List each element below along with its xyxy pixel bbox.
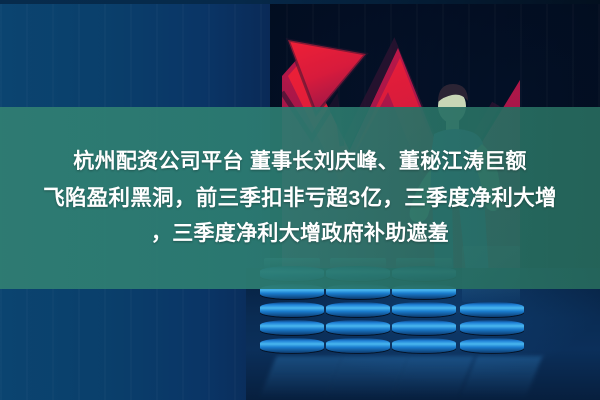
headline-line-3: ，三季度净利大增政府补助遮羞 — [151, 219, 449, 249]
news-banner-image: 杭州配资公司平台 董事长刘庆峰、董秘江涛巨额 飞陷盈利黑洞，前三季扣非亏超3亿，… — [0, 0, 600, 400]
headline-line-2: 飞陷盈利黑洞，前三季扣非亏超3亿，三季度净利大增 — [43, 183, 557, 213]
headline-line-1: 杭州配资公司平台 董事长刘庆峰、董秘江涛巨额 — [73, 147, 526, 177]
headline-text-block: 杭州配资公司平台 董事长刘庆峰、董秘江涛巨额 飞陷盈利黑洞，前三季扣非亏超3亿，… — [0, 107, 600, 289]
